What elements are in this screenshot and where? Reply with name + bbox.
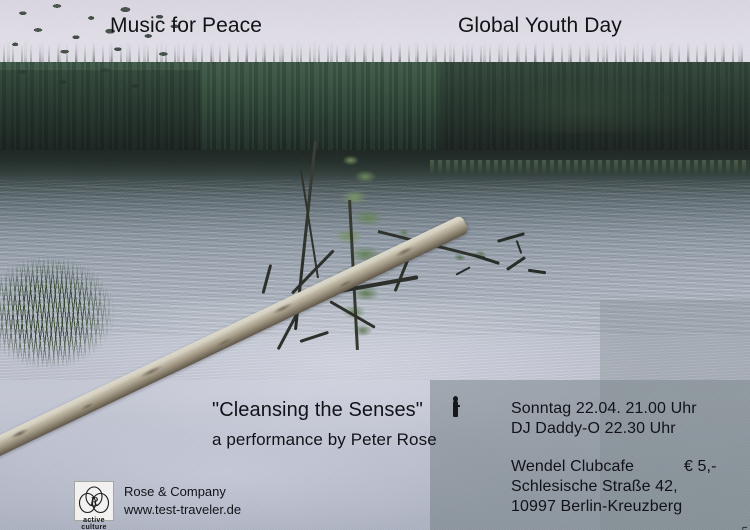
performance-subtitle: a performance by Peter Rose [212,430,437,450]
venue-street: Schlesische Straße 42, [511,478,678,496]
reed-blades [0,240,150,385]
performance-title: "Cleansing the Senses" [212,399,423,422]
event-poster: Music for Peace Global Youth Day "Cleans… [0,0,750,530]
photo-credit: Foto by Eckhard Schwiemann [739,526,749,530]
heading-music-for-peace: Music for Peace [110,14,262,38]
event-date-time: Sonntag 22.04. 21.00 Uhr [511,400,697,418]
rose-trefoil-r-logo-icon: R [74,481,114,521]
lily-pad-patch-secondary [0,60,150,100]
logo-text-block: Rose & Company www.test-traveler.de [124,481,241,518]
company-website[interactable]: www.test-traveler.de [124,501,241,519]
logo-block[interactable]: R Rose & Company www.test-traveler.de [74,481,241,521]
company-name: Rose & Company [124,483,241,501]
ticket-price: € 5,- [684,458,717,476]
venue-name: Wendel Clubcafe [511,458,634,476]
venue-city: 10997 Berlin-Kreuzberg [511,498,682,516]
heading-global-youth-day: Global Youth Day [458,14,622,38]
standing-person-icon [452,396,459,418]
person-body-shape [453,401,458,417]
event-dj-set: DJ Daddy-O 22.30 Uhr [511,420,676,438]
far-shore-grass [430,160,750,174]
lake-photograph [0,0,750,385]
person-arm-shape [457,405,460,407]
svg-text:R: R [89,495,99,510]
logo-caption: active culture [74,517,114,530]
